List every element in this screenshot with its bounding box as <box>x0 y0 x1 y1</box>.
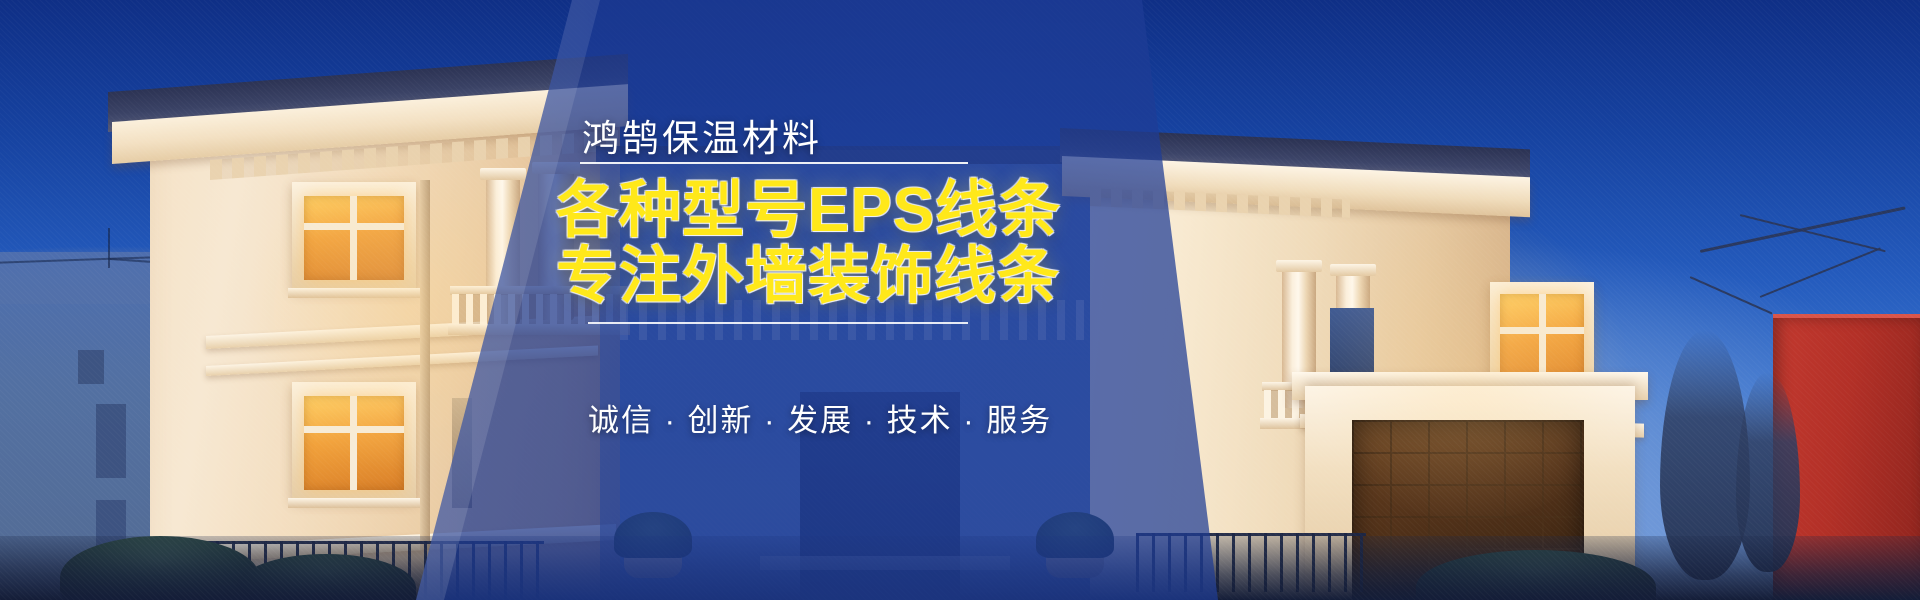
headline-line-2: 专注外墙装饰线条 <box>556 248 1026 306</box>
divider-top <box>580 162 968 164</box>
brand-title: 鸿鹄保温材料 <box>582 108 822 162</box>
hero-banner: 鸿鹄保温材料 各种型号EPS线条 专注外墙装饰线条 诚信 · 创新 · 发展 ·… <box>0 0 1920 600</box>
banner-content: 鸿鹄保温材料 各种型号EPS线条 专注外墙装饰线条 诚信 · 创新 · 发展 ·… <box>0 0 1920 600</box>
tagline: 诚信 · 创新 · 发展 · 技术 · 服务 <box>588 395 1052 440</box>
headline-line-1: 各种型号EPS线条 <box>556 182 1026 240</box>
divider-bottom <box>588 322 968 324</box>
headline-block: 各种型号EPS线条 专注外墙装饰线条 <box>556 182 1026 306</box>
